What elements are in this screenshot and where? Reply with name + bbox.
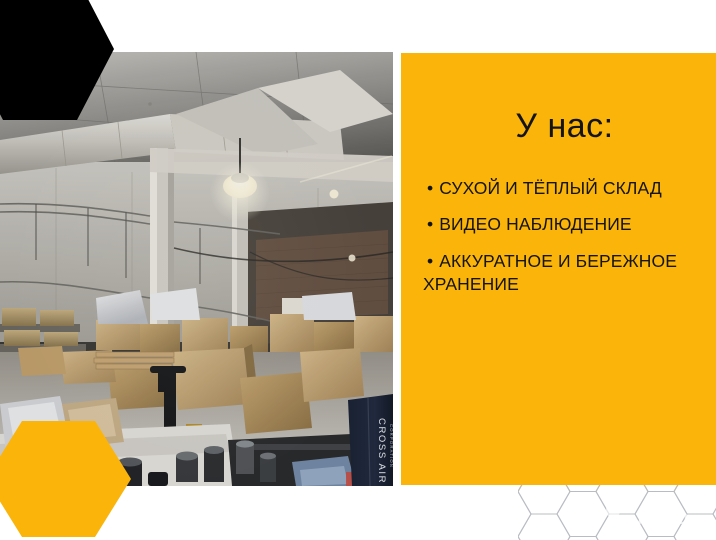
list-item-label: СУХОЙ И ТЁПЛЫЙ СКЛАД [439,178,662,198]
avito-logo-icon [606,503,631,529]
hexagon-cell [557,492,609,537]
hexagon-cell [518,514,570,540]
bullet-marker: • [427,250,433,272]
hexagon-cell [518,492,531,537]
bullet-marker: • [427,177,433,199]
list-item-label: АККУРАТНОЕ И БЕРЕЖНОЕ [439,251,677,271]
list-item: •СУХОЙ И ТЁПЛЫЙ СКЛАД [427,177,702,199]
avito-wordmark: Avito [637,506,689,529]
avito-watermark: Avito [604,501,708,536]
panel-title: У нас: [427,109,702,143]
list-item: •АККУРАТНОЕ И БЕРЕЖНОЕ [427,250,702,272]
features-panel: У нас: •СУХОЙ И ТЁПЛЫЙ СКЛАД •ВИДЕО НАБЛ… [401,53,716,485]
list-item-label: ВИДЕО НАБЛЮДЕНИЕ [439,214,631,234]
hexagon-yellow-bottom-left [0,421,131,537]
bullet-marker: • [427,213,433,235]
hexagon-black-top-left [0,0,114,120]
list-item-label-continuation: ХРАНЕНИЕ [423,274,702,295]
features-list: •СУХОЙ И ТЁПЛЫЙ СКЛАД •ВИДЕО НАБЛЮДЕНИЕ … [427,177,702,272]
slide-canvas: CROSS AIR CORPORATION У нас: •СУХОЙ И ТЁ… [0,0,716,540]
hexagon-cell [635,537,687,540]
hexagon-cell [557,537,609,540]
list-item: •ВИДЕО НАБЛЮДЕНИЕ [427,213,702,235]
